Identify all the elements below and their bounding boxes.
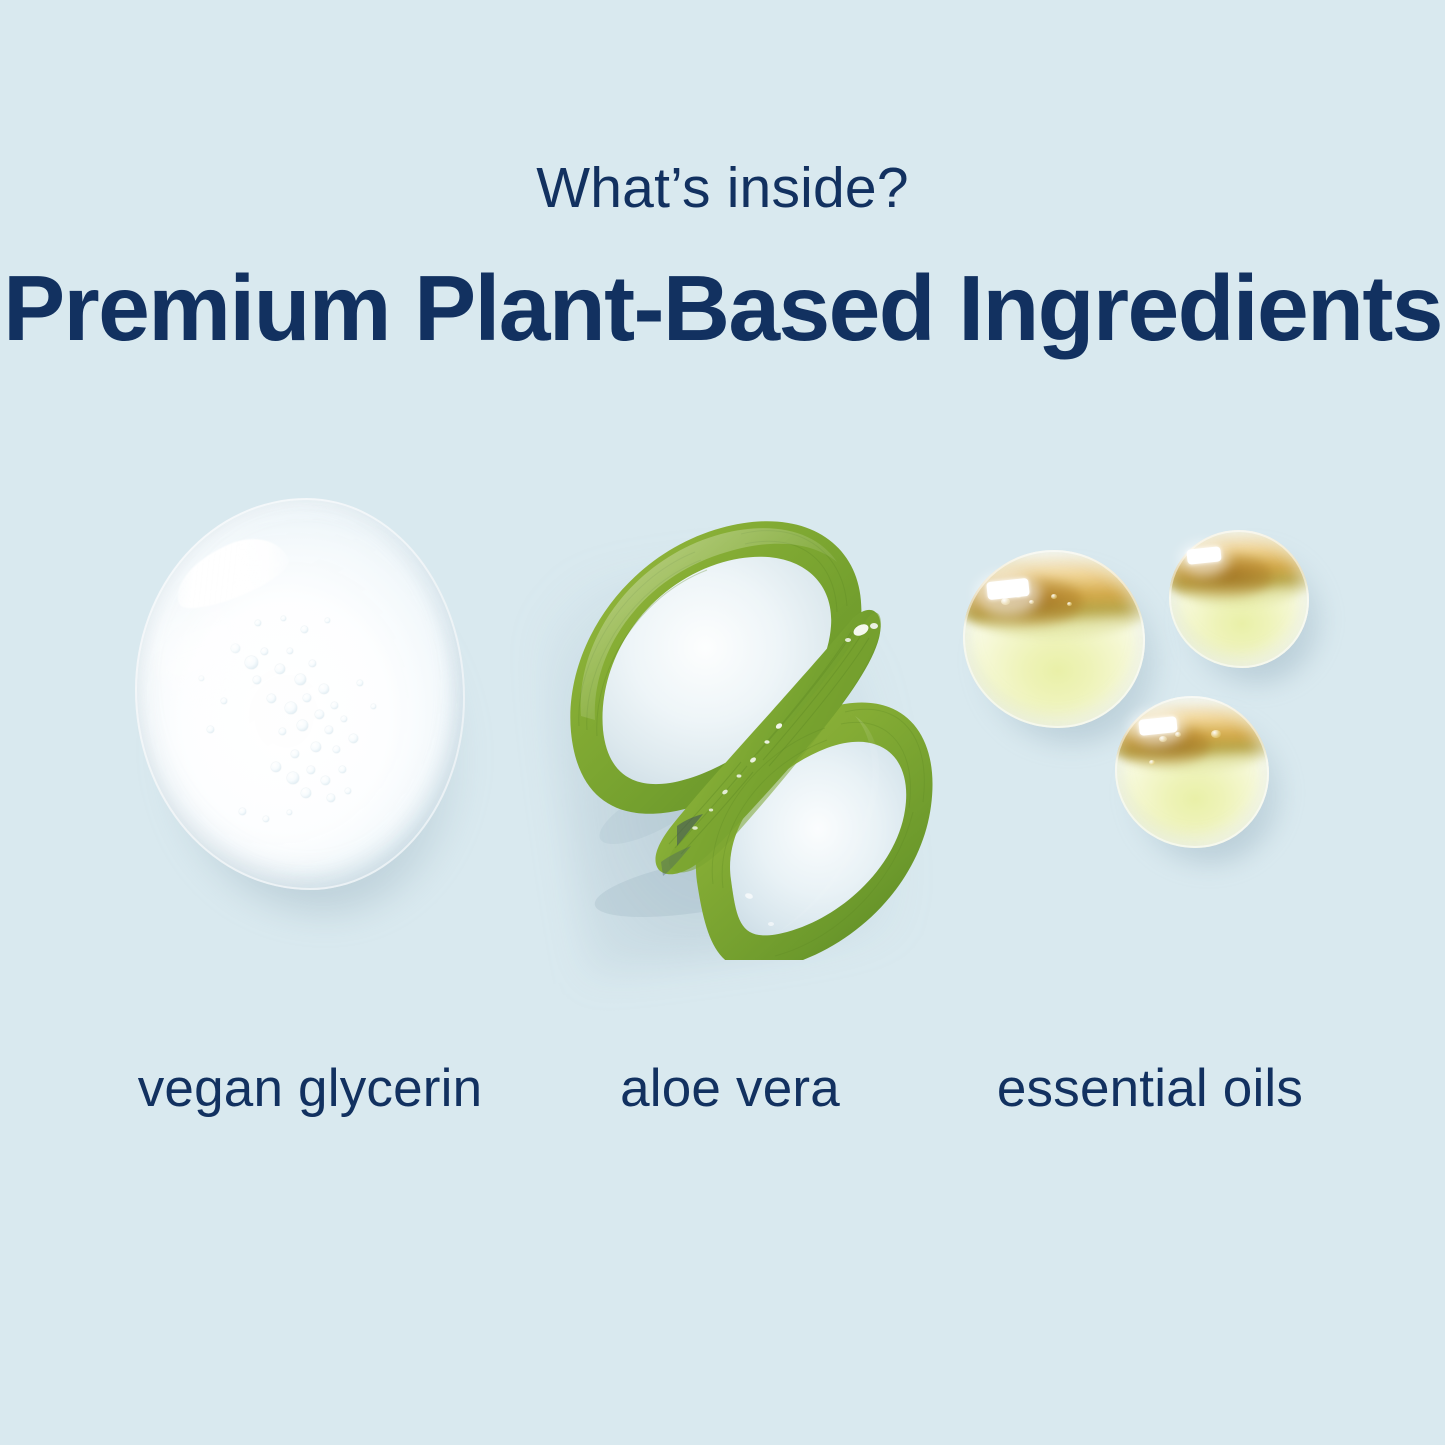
oil-droplet-small-top (1169, 530, 1309, 668)
ingredient-card-aloe-vera (515, 470, 945, 970)
glycerin-soft-highlight (157, 590, 239, 710)
oil-droplets-icon (947, 530, 1347, 910)
eyebrow-text: What’s inside? (0, 160, 1445, 217)
ingredients-row (0, 470, 1445, 970)
oil-droplet-small-bottom (1115, 696, 1269, 848)
caption-essential-oils: essential oils (935, 1062, 1365, 1115)
ingredient-card-essential-oils (935, 470, 1365, 970)
glycerin-blob-icon (135, 498, 475, 898)
ingredient-captions: vegan glycerin aloe vera essential oils (0, 1062, 1445, 1142)
ingredient-card-vegan-glycerin (95, 470, 525, 970)
ingredients-poster: What’s inside? Premium Plant-Based Ingre… (0, 0, 1445, 1445)
caption-aloe-vera: aloe vera (515, 1062, 945, 1115)
aloe-leaf-svg (535, 480, 935, 960)
aloe-leaf-icon (535, 480, 935, 960)
caption-vegan-glycerin: vegan glycerin (95, 1062, 525, 1115)
page-title: Premium Plant-Based Ingredients (0, 258, 1445, 358)
